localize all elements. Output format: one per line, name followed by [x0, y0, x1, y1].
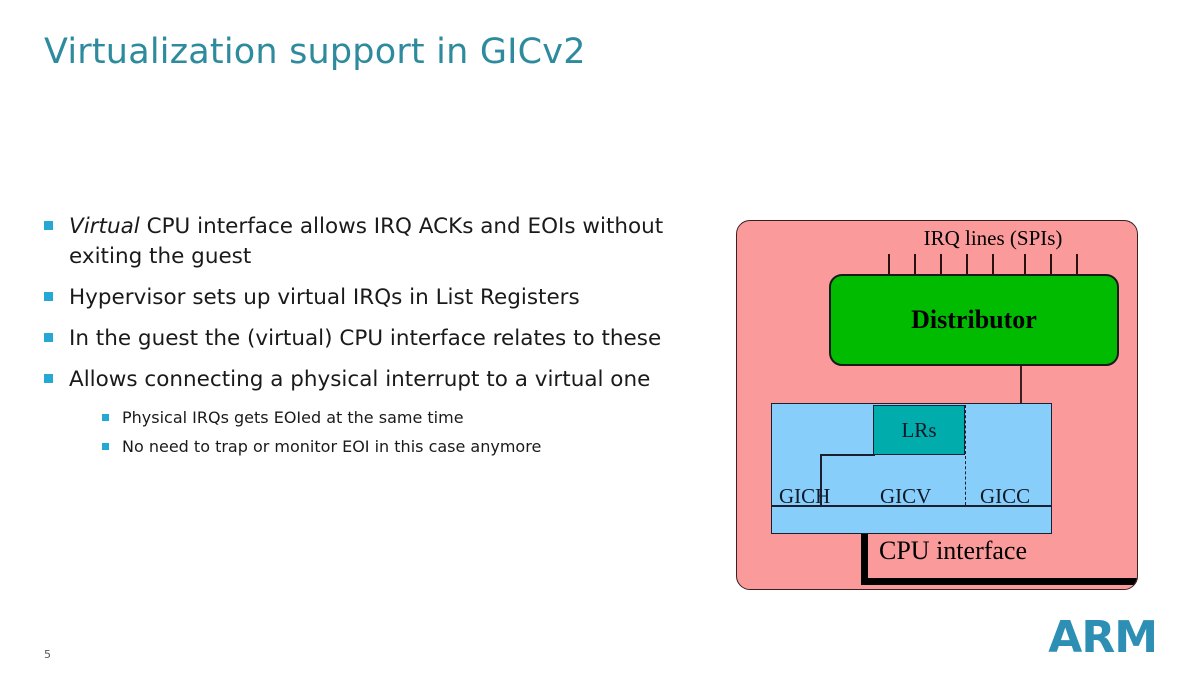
- sub-list-item: No need to trap or monitor EOI in this c…: [44, 435, 724, 458]
- sub-list-item-text: No need to trap or monitor EOI in this c…: [122, 435, 541, 458]
- list-item-text: Hypervisor sets up virtual IRQs in List …: [69, 283, 580, 313]
- sub-bullet-marker-icon: [102, 414, 109, 421]
- bullet-marker-icon: [44, 292, 53, 301]
- bullet-marker-icon: [44, 221, 53, 230]
- distributor-block: Distributor: [829, 274, 1119, 366]
- irq-line-tick-4: [966, 254, 968, 276]
- list-registers-label: LRs: [901, 418, 936, 443]
- list-item-text: In the guest the (virtual) CPU interface…: [69, 324, 661, 354]
- diagram-frame: IRQ lines (SPIs) Distributor LRs GICH GI…: [736, 220, 1138, 590]
- gich-label: GICH: [779, 484, 830, 509]
- irq-line-tick-5: [992, 254, 994, 276]
- irq-line-tick-6: [1024, 254, 1026, 276]
- sub-bullet-marker-icon: [102, 443, 109, 450]
- irq-line-tick-8: [1076, 254, 1078, 276]
- block-separator-2: [965, 405, 966, 505]
- gicv-label: GICV: [880, 484, 931, 509]
- sub-list-item: Physical IRQs gets EOIed at the same tim…: [44, 406, 724, 429]
- irq-line-tick-1: [888, 254, 890, 276]
- slide-number: 5: [44, 648, 51, 661]
- distributor-label: Distributor: [911, 305, 1037, 335]
- irq-line-tick-3: [940, 254, 942, 276]
- list-item: Virtual CPU interface allows IRQ ACKs an…: [44, 212, 724, 272]
- irq-line-tick-7: [1050, 254, 1052, 276]
- list-item-text: Virtual CPU interface allows IRQ ACKs an…: [69, 212, 724, 272]
- gic-architecture-diagram: IRQ lines (SPIs) Distributor LRs GICH GI…: [736, 220, 1138, 590]
- bullet-marker-icon: [44, 333, 53, 342]
- list-item-text: Allows connecting a physical interrupt t…: [69, 365, 650, 395]
- bullet-marker-icon: [44, 374, 53, 383]
- gicv-step-horizontal: [820, 454, 875, 456]
- list-item-rest: CPU interface allows IRQ ACKs and EOIs w…: [69, 214, 663, 269]
- list-item: In the guest the (virtual) CPU interface…: [44, 324, 724, 354]
- cpu-interface-bracket-horizontal: [861, 578, 1138, 585]
- sub-list-item-text: Physical IRQs gets EOIed at the same tim…: [122, 406, 464, 429]
- cpu-interface-label: CPU interface: [879, 536, 1027, 566]
- list-item: Allows connecting a physical interrupt t…: [44, 365, 724, 395]
- irq-lines-label: IRQ lines (SPIs): [883, 226, 1103, 251]
- page-title: Virtualization support in GICv2: [44, 32, 586, 72]
- distributor-connector-line: [1020, 366, 1022, 404]
- arm-logo: ARM: [1048, 612, 1157, 663]
- gicc-label: GICC: [980, 484, 1030, 509]
- list-item: Hypervisor sets up virtual IRQs in List …: [44, 283, 724, 313]
- bullet-list: Virtual CPU interface allows IRQ ACKs an…: [44, 212, 724, 464]
- emphasis-virtual: Virtual: [69, 214, 140, 239]
- irq-line-tick-2: [914, 254, 916, 276]
- list-registers-block: LRs: [873, 405, 965, 455]
